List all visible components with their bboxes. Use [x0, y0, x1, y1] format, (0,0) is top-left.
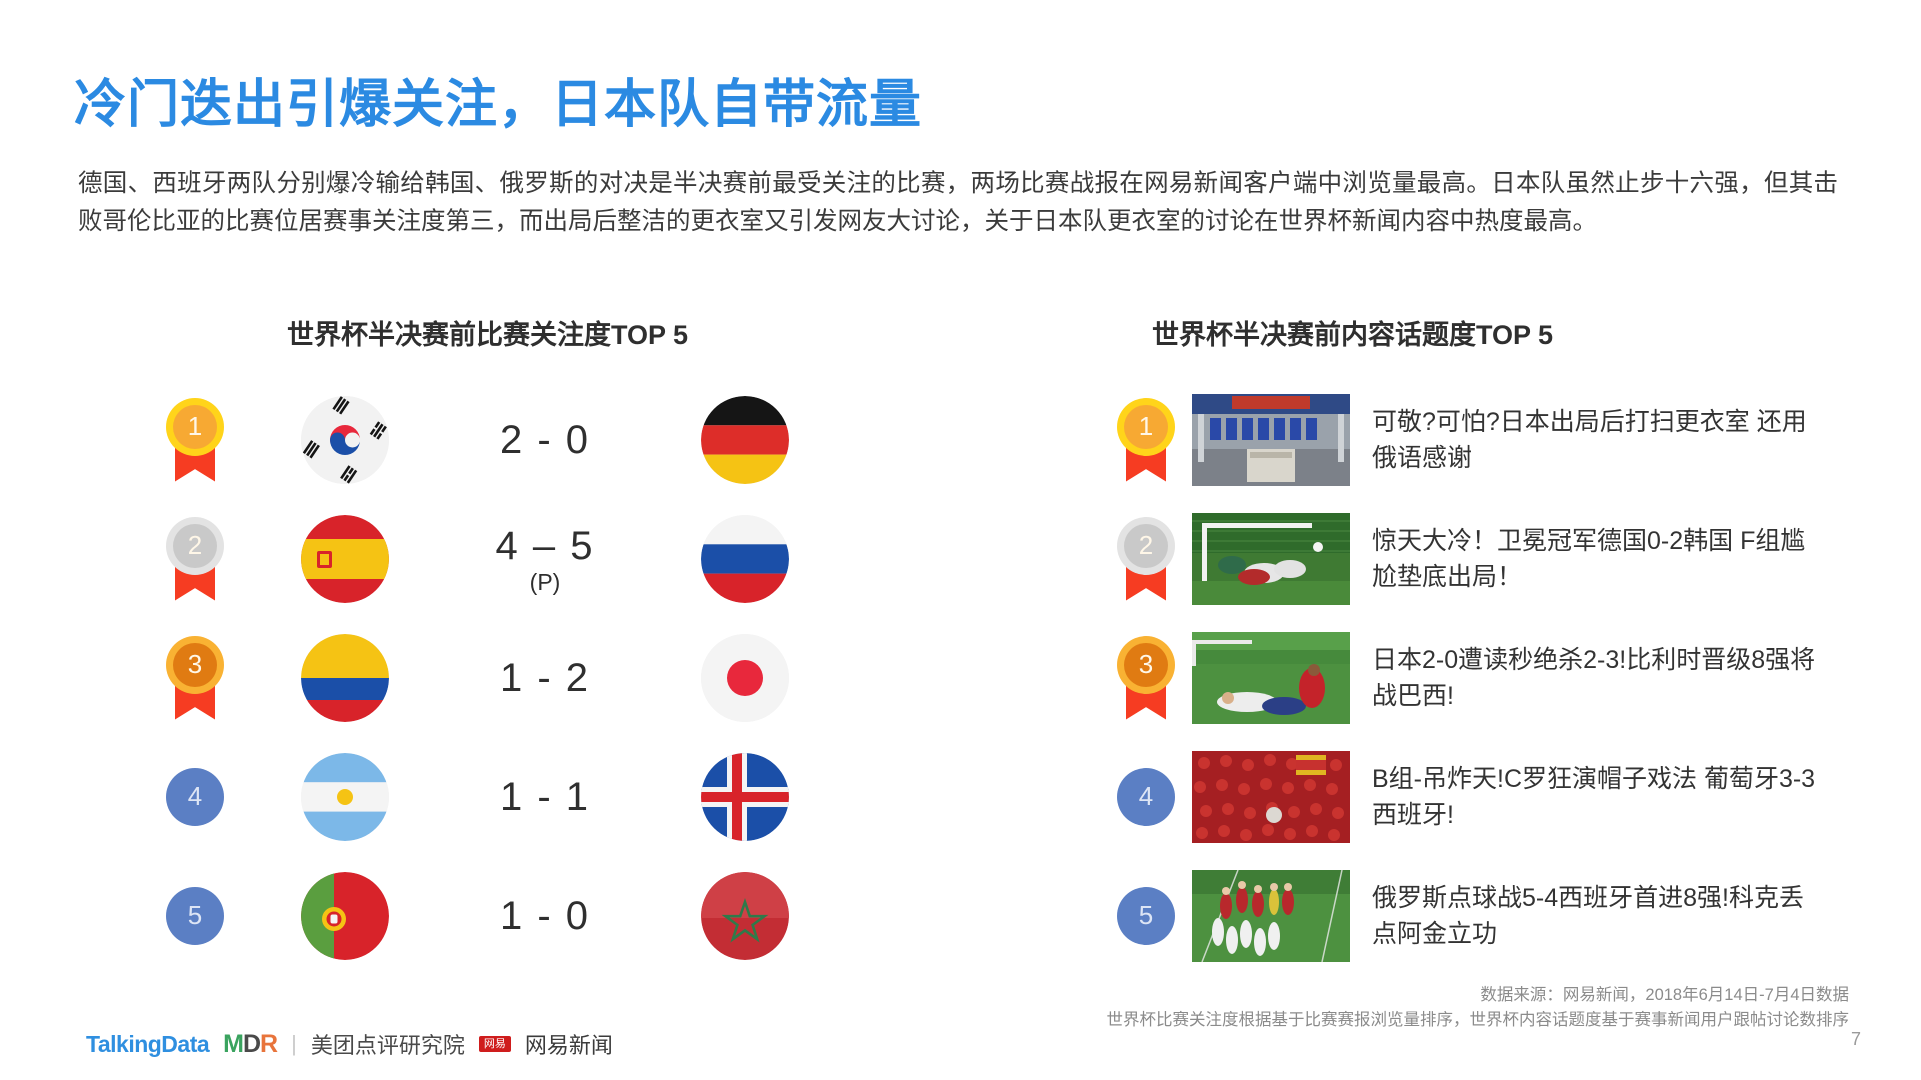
rank-number: 5	[188, 900, 202, 931]
rank-badge: 5	[166, 887, 224, 945]
table-row[interactable]: 4 1 - 1	[140, 737, 900, 856]
right-panel-title: 世界杯半决赛前内容话题度TOP 5	[1152, 313, 1553, 352]
table-row[interactable]: 3 1 - 2	[140, 618, 900, 737]
medal-ring: 1	[1117, 398, 1175, 456]
score-value: 1 - 1	[440, 774, 650, 820]
home-flag-cell	[250, 753, 440, 841]
news-title: 日本2-0遭读秒绝杀2-3!比利时晋级8强将战巴西!	[1372, 642, 1827, 714]
rank-number: 1	[173, 405, 217, 449]
flag-germany-icon	[701, 396, 789, 484]
score-cell: 1 - 0	[440, 893, 650, 939]
flag-argentina-icon	[301, 753, 389, 841]
rank-number: 4	[188, 781, 202, 812]
mdr-logo: MDR	[223, 1030, 277, 1059]
rank-cell: 5	[1100, 887, 1192, 945]
table-row[interactable]: 5	[140, 856, 900, 975]
flag-south-korea-icon	[301, 396, 389, 484]
away-flag-cell	[650, 634, 840, 722]
medal-ring: 1	[166, 398, 224, 456]
logo-bar: TalkingData MDR | 美团点评研究院 网易 网易新闻	[86, 1028, 613, 1060]
home-flag-cell	[250, 872, 440, 960]
table-row[interactable]: 1	[140, 380, 900, 499]
away-flag-cell	[650, 872, 840, 960]
talkingdata-logo: TalkingData	[86, 1031, 209, 1058]
rank-badge: 5	[1117, 887, 1175, 945]
medal-icon: 3	[163, 636, 227, 720]
medal-ring: 2	[1117, 517, 1175, 575]
rank-cell: 2	[140, 517, 250, 601]
thumbnail-penalty-celebration[interactable]	[1192, 870, 1350, 962]
rank-number: 3	[173, 643, 217, 687]
mdr-letter-d: D	[243, 1030, 260, 1058]
medal-icon: 2	[1114, 517, 1178, 601]
flag-japan-icon	[701, 634, 789, 722]
score-cell: 2 - 0	[440, 417, 650, 463]
thumbnail-locker-room[interactable]	[1192, 394, 1350, 486]
medal-icon: 1	[1114, 398, 1178, 482]
score-value: 1 - 2	[440, 655, 650, 701]
logo-divider: |	[291, 1031, 297, 1057]
left-panel-title: 世界杯半决赛前比赛关注度TOP 5	[287, 313, 688, 352]
list-item[interactable]: 3 日本2-0遭读秒绝杀2-3!比利时晋级8强将战	[1100, 618, 1890, 737]
medal-icon: 3	[1114, 636, 1178, 720]
news-title: B组-吊炸天!C罗狂演帽子戏法 葡萄牙3-3西班牙!	[1372, 761, 1827, 833]
thumbnail-red-fans-crowd[interactable]	[1192, 751, 1350, 843]
rank-number: 1	[1124, 405, 1168, 449]
slide: 冷门迭出引爆关注，日本队自带流量 德国、西班牙两队分别爆冷输给韩国、俄罗斯的对决…	[0, 0, 1921, 1080]
page-number: 7	[1851, 1029, 1861, 1050]
thumbnail-goalmouth[interactable]	[1192, 513, 1350, 605]
score-value: 4 – 5	[440, 523, 650, 569]
table-row[interactable]: 2 4 –	[140, 499, 900, 618]
rank-cell: 2	[1100, 517, 1192, 601]
score-cell: 1 - 2	[440, 655, 650, 701]
medal-ring: 3	[166, 636, 224, 694]
source-line-2: 世界杯比赛关注度根据基于比赛赛报浏览量排序，世界杯内容话题度基于赛事新闻用户跟帖…	[1107, 1008, 1850, 1033]
news-ranking-list: 1	[1100, 380, 1890, 975]
medal-icon: 2	[163, 517, 227, 601]
list-item[interactable]: 1	[1100, 380, 1890, 499]
rank-cell: 4	[1100, 768, 1192, 826]
home-flag-cell	[250, 396, 440, 484]
rank-number: 5	[1139, 900, 1153, 931]
list-item[interactable]: 4	[1100, 737, 1890, 856]
medal-ring: 2	[166, 517, 224, 575]
flag-iceland-icon	[701, 753, 789, 841]
thumbnail-players-on-turf[interactable]	[1192, 632, 1350, 724]
mdr-letter-m: M	[223, 1030, 243, 1058]
netease-badge-icon: 网易	[479, 1036, 511, 1052]
away-flag-cell	[650, 396, 840, 484]
rank-number: 3	[1124, 643, 1168, 687]
score-note: (P)	[440, 569, 650, 595]
rank-cell: 1	[140, 398, 250, 482]
intro-paragraph: 德国、西班牙两队分别爆冷输给韩国、俄罗斯的对决是半决赛前最受关注的比赛，两场比赛…	[78, 165, 1838, 241]
rank-badge: 4	[1117, 768, 1175, 826]
away-flag-cell	[650, 753, 840, 841]
score-value: 1 - 0	[440, 893, 650, 939]
rank-cell: 5	[140, 887, 250, 945]
score-cell: 4 – 5 (P)	[440, 523, 650, 595]
flag-morocco-icon	[701, 872, 789, 960]
rank-cell: 3	[140, 636, 250, 720]
away-flag-cell	[650, 515, 840, 603]
page-title: 冷门迭出引爆关注，日本队自带流量	[74, 62, 922, 137]
flag-russia-icon	[701, 515, 789, 603]
netease-news-logo: 网易新闻	[525, 1028, 613, 1060]
meituan-research-logo: 美团点评研究院	[311, 1028, 465, 1060]
source-note: 数据来源：网易新闻，2018年6月14日-7月4日数据 世界杯比赛关注度根据基于…	[1107, 983, 1850, 1033]
source-line-1: 数据来源：网易新闻，2018年6月14日-7月4日数据	[1107, 983, 1850, 1008]
news-title: 惊天大冷！卫冕冠军德国0-2韩国 F组尴尬垫底出局！	[1372, 523, 1827, 595]
score-cell: 1 - 1	[440, 774, 650, 820]
news-title: 俄罗斯点球战5-4西班牙首进8强!科克丢点阿金立功	[1372, 880, 1827, 952]
rank-cell: 3	[1100, 636, 1192, 720]
home-flag-cell	[250, 634, 440, 722]
rank-cell: 1	[1100, 398, 1192, 482]
flag-portugal-icon	[301, 872, 389, 960]
score-value: 2 - 0	[440, 417, 650, 463]
medal-icon: 1	[163, 398, 227, 482]
list-item[interactable]: 5	[1100, 856, 1890, 975]
rank-number: 2	[173, 524, 217, 568]
mdr-letter-r: R	[260, 1030, 277, 1058]
news-title: 可敬?可怕?日本出局后打扫更衣室 还用俄语感谢	[1372, 404, 1827, 476]
medal-ring: 3	[1117, 636, 1175, 694]
match-ranking-list: 1	[140, 380, 900, 975]
flag-colombia-icon	[301, 634, 389, 722]
flag-spain-icon	[301, 515, 389, 603]
home-flag-cell	[250, 515, 440, 603]
list-item[interactable]: 2	[1100, 499, 1890, 618]
rank-number: 4	[1139, 781, 1153, 812]
rank-cell: 4	[140, 768, 250, 826]
rank-number: 2	[1124, 524, 1168, 568]
rank-badge: 4	[166, 768, 224, 826]
